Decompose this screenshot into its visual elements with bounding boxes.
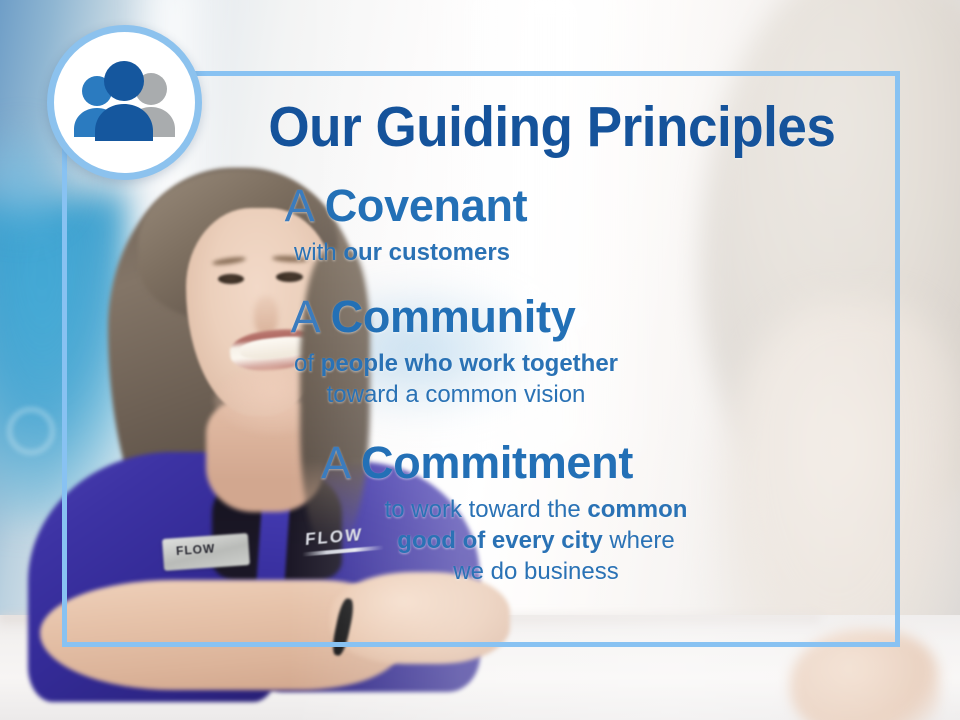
principle-commitment-sub-plain-1: to work toward the <box>385 496 588 523</box>
principle-covenant-heading: A Covenant <box>62 179 750 233</box>
principle-commitment-sub-bold-a: common <box>587 496 687 523</box>
principle-covenant-word: Covenant <box>325 180 528 231</box>
principle-commitment-word: Commitment <box>361 437 633 488</box>
principle-commitment: A Commitment to work toward the common g… <box>62 436 900 587</box>
principle-community-word: Community <box>331 291 576 342</box>
principle-community: A Community of people who work together … <box>62 290 900 410</box>
principle-commitment-sub-bold-b: good of every city <box>397 527 602 554</box>
principle-covenant-sub-bold: our customers <box>343 239 510 266</box>
principle-covenant: A Covenant with our customers <box>62 179 900 268</box>
blurred-brand-emblem <box>8 408 54 454</box>
page-title: Our Guiding Principles <box>93 96 872 158</box>
principle-commitment-sub-plain-2: where <box>609 527 674 554</box>
principle-community-sub-plain-1: of <box>294 350 321 377</box>
principle-commitment-heading: A Commitment <box>62 436 892 490</box>
principle-commitment-sub-line-3: we do business <box>180 556 892 587</box>
principle-community-heading: A Community <box>62 290 804 344</box>
guiding-principles-badge <box>47 25 202 180</box>
principle-commitment-sub-line-1: to work toward the common <box>180 494 892 525</box>
principle-community-sub-bold: people who work together <box>321 350 618 377</box>
poster-canvas: FLOW FLOW Our Guiding Principles A Coven… <box>0 0 960 720</box>
principle-covenant-lead: A <box>285 180 313 231</box>
principle-community-sub-line-2: toward a common vision <box>108 379 804 410</box>
principle-community-sub-line-1: of people who work together <box>108 348 804 379</box>
principle-commitment-sub-line-2: good of every city where <box>180 525 892 556</box>
principle-commitment-subtext: to work toward the common good of every … <box>62 494 892 587</box>
principle-covenant-sub-plain: with <box>294 239 343 266</box>
poster-content: Our Guiding Principles A Covenant with o… <box>62 71 900 647</box>
principle-commitment-lead: A <box>321 437 349 488</box>
principles-list: A Covenant with our customers A Communit… <box>62 179 900 591</box>
group-of-people-icon <box>65 57 185 149</box>
principle-community-lead: A <box>291 291 319 342</box>
principle-covenant-subtext: with our customers <box>62 237 750 268</box>
principle-community-subtext: of people who work together toward a com… <box>62 348 804 410</box>
